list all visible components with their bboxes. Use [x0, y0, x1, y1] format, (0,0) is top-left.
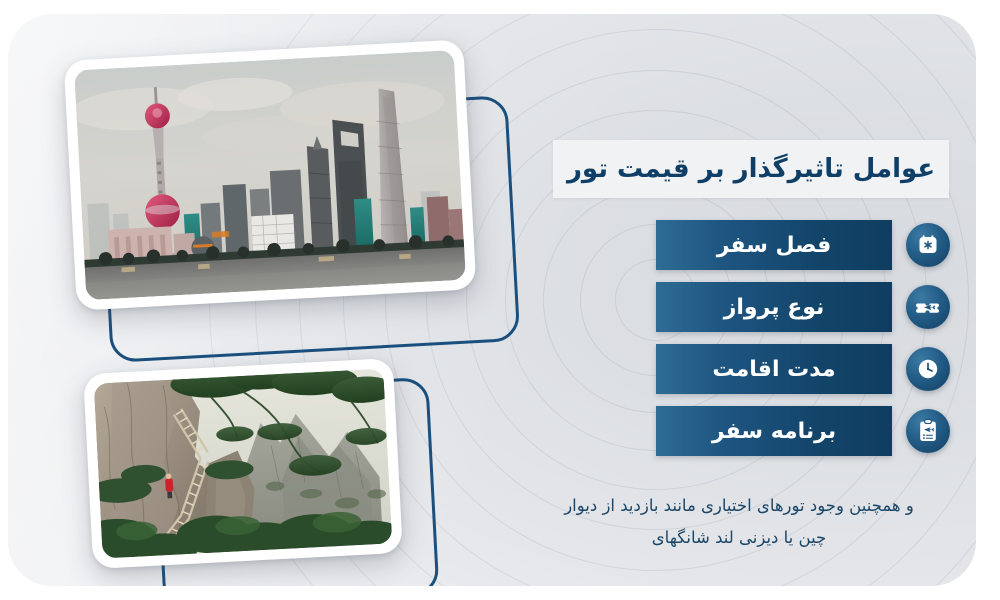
factor-bar[interactable]: نوع پرواز	[656, 282, 892, 332]
factor-label: نوع پرواز	[724, 295, 825, 320]
factor-label: مدت اقامت	[712, 357, 835, 382]
clock-icon	[906, 347, 950, 391]
footnote-paragraph: و همچنین وجود تورهای اختیاری مانند بازدی…	[528, 490, 950, 554]
factor-label: فصل سفر	[717, 233, 832, 258]
itinerary-clipboard-icon	[906, 409, 950, 453]
content-panel: عوامل تاثیرگذار بر قیمت تور فصل سفر	[8, 14, 976, 586]
factor-bar[interactable]: مدت اقامت	[656, 344, 892, 394]
page-title: عوامل تاثیرگذار بر قیمت تور	[567, 154, 935, 184]
factor-item-itinerary[interactable]: برنامه سفر	[640, 406, 950, 456]
factor-item-travel-season[interactable]: فصل سفر	[640, 220, 950, 270]
factor-item-stay-duration[interactable]: مدت اقامت	[640, 344, 950, 394]
footnote-line-1: و همچنین وجود تورهای اختیاری مانند بازدی…	[528, 490, 950, 522]
huangshan-mountain-photo-card[interactable]	[83, 358, 403, 569]
shanghai-skyline-photo-card[interactable]	[64, 39, 477, 310]
factor-bar[interactable]: برنامه سفر	[656, 406, 892, 456]
infographic-canvas: عوامل تاثیرگذار بر قیمت تور فصل سفر	[0, 0, 1000, 600]
factor-label: برنامه سفر	[712, 419, 836, 444]
flight-ticket-icon	[906, 285, 950, 329]
shanghai-skyline-photo	[74, 50, 466, 300]
factor-list: فصل سفر	[640, 220, 950, 468]
footnote-line-2: چین یا دیزنی لند شانگهای	[528, 522, 950, 554]
factor-item-flight-type[interactable]: نوع پرواز	[640, 282, 950, 332]
factor-bar[interactable]: فصل سفر	[656, 220, 892, 270]
snowflake-calendar-icon	[906, 223, 950, 267]
huangshan-mountain-photo	[94, 369, 393, 559]
page-title-panel: عوامل تاثیرگذار بر قیمت تور	[553, 140, 949, 198]
